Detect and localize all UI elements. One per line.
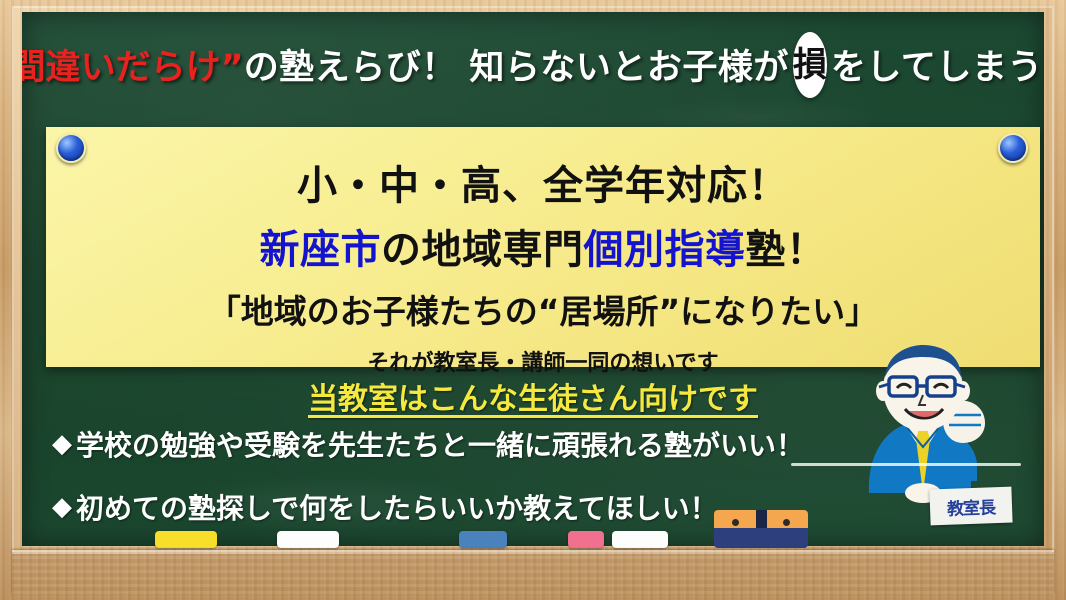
- teacher-illustration: 教室長: [831, 343, 1016, 528]
- list-item-label: 学校の勉強や受験を先生たちと一緒に頑張れる塾がいい！: [76, 424, 804, 464]
- poster-image: “間違いだらけ” の塾えらび！ 知らないとお子様が 損 をしてしまう！ 小・中・…: [0, 0, 1066, 600]
- chalk-piece: [277, 531, 339, 548]
- poster-line-2: 新座市の地域専門個別指導塾！: [260, 217, 827, 275]
- magnet-pin-right-icon: [998, 133, 1028, 163]
- poster-line-1: 小・中・高、全学年対応！: [297, 153, 789, 211]
- magnet-pin-left-icon: [56, 133, 86, 163]
- loss-badge-label: 損: [793, 48, 827, 82]
- yellow-poster-panel: 小・中・高、全学年対応！ 新座市の地域専門個別指導塾！ 「地域のお子様たちの“居…: [46, 127, 1040, 367]
- diamond-bullet-icon: ◆: [52, 494, 72, 520]
- chalk-piece: [568, 531, 604, 548]
- chalkboard: “間違いだらけ” の塾えらび！ 知らないとお子様が 損 をしてしまう！ 小・中・…: [22, 12, 1044, 546]
- loss-badge: 損: [793, 32, 827, 98]
- headline-white-text-2: をしてしまう！: [831, 39, 1044, 90]
- section-heading-text: 当教室はこんな生徒さん向けです: [308, 382, 758, 417]
- chalk-piece: [155, 531, 217, 548]
- poster-line-2-city: 新座市: [260, 227, 382, 273]
- blackboard-eraser-icon: [714, 510, 808, 548]
- chalk-piece: [459, 531, 507, 548]
- poster-line-2-end: 塾！: [746, 227, 827, 273]
- headline-red-text: “間違いだらけ”: [22, 39, 244, 90]
- chalk-ledge: [12, 550, 1054, 594]
- list-item: ◆ 学校の勉強や受験を先生たちと一緒に頑張れる塾がいい！: [52, 424, 902, 464]
- desk-line: [791, 463, 1021, 466]
- chalk-piece: [612, 531, 668, 548]
- nameplate-label: 教室長: [947, 493, 996, 520]
- headline-white-text-1: の塾えらび！ 知らないとお子様が: [244, 39, 789, 90]
- list-item-label: 初めての塾探しで何をしたらいいか教えてほしい！: [76, 487, 718, 527]
- poster-line-3: 「地域のお子様たちの“居場所”になりたい」: [208, 285, 878, 333]
- nameplate: 教室長: [929, 487, 1012, 526]
- poster-line-2-style: 個別指導: [584, 227, 746, 273]
- headline: “間違いだらけ” の塾えらび！ 知らないとお子様が 損 をしてしまう！: [22, 32, 1044, 96]
- poster-line-2-mid: の地域専門: [381, 227, 584, 273]
- diamond-bullet-icon: ◆: [52, 431, 72, 457]
- poster-line-4: それが教室長・講師一同の想いです: [367, 345, 718, 377]
